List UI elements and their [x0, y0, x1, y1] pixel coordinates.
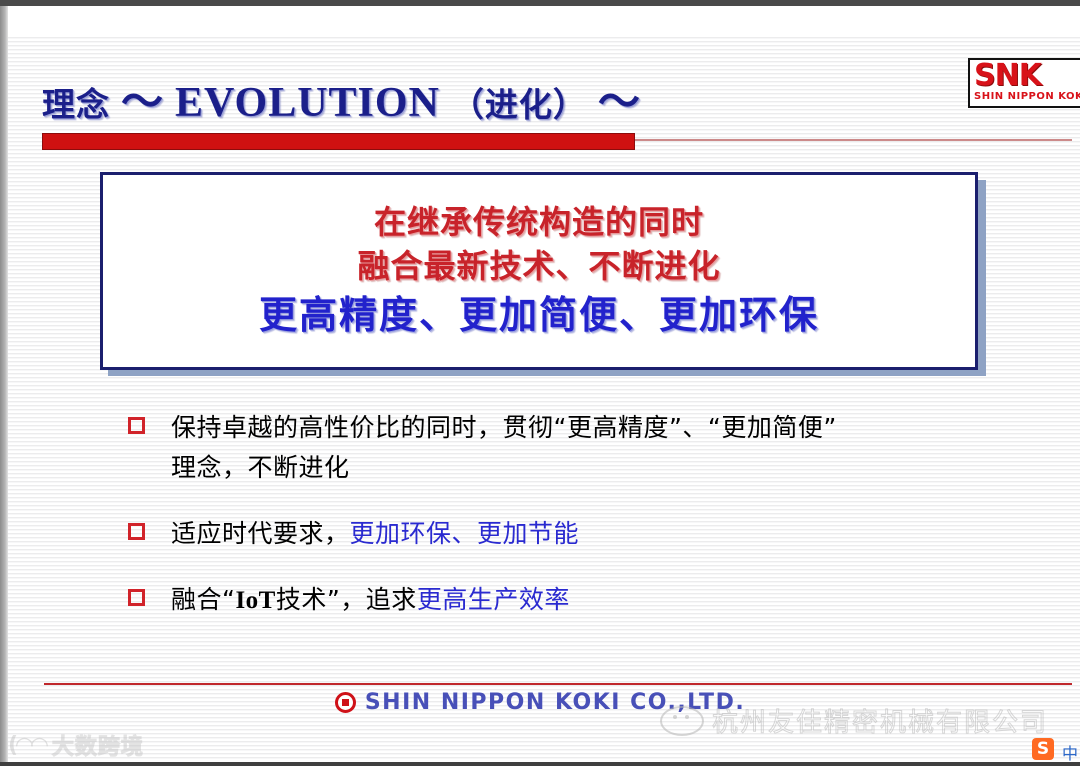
list-item-text-iot: IoT — [235, 587, 275, 614]
watermark-right: 杭州友佳精密机械有限公司 — [660, 702, 1048, 739]
page-title-separator-left: ～ — [121, 80, 164, 126]
list-item-text: 适应时代要求，更加环保、更加节能 — [171, 514, 579, 554]
watermark-left-logo-icon: (◠◠ — [8, 733, 46, 758]
list-item-text-plain: 适应时代要求， — [171, 519, 350, 548]
watermark-left: (◠◠ 大数跨境 — [8, 729, 144, 761]
watermark-right-text: 杭州友佳精密机械有限公司 — [712, 702, 1048, 739]
slide-canvas: 理念 ～ EVOLUTION （进化） ～ SNK SHIN NIPPON KO… — [0, 0, 1080, 766]
snk-logo-subtitle: SHIN NIPPON KOKI — [970, 91, 1080, 103]
list-item: 适应时代要求，更加环保、更加节能 — [128, 514, 1028, 554]
snk-logo: SNK SHIN NIPPON KOKI — [968, 58, 1080, 108]
list-item-text-highlight: 更高生产效率 — [417, 585, 570, 614]
page-title-en: EVOLUTION — [175, 80, 440, 126]
callout-box: 在继承传统构造的同时 融合最新技术、不断进化 更高精度、更加简便、更加环保 — [100, 172, 978, 370]
square-bullet-icon — [128, 589, 145, 606]
list-item-text-highlight: 更加环保、更加节能 — [350, 519, 580, 548]
page-title-cn: 理念 — [42, 85, 110, 124]
page-title-separator-right: ～ — [598, 80, 641, 126]
callout-line-1: 在继承传统构造的同时 — [374, 200, 704, 244]
top-edge-bar — [0, 0, 1080, 6]
list-item: 保持卓越的高性价比的同时，贯彻“更高精度”、“更加简便” 理念，不断进化 — [128, 408, 1028, 488]
company-mark-icon — [335, 692, 356, 713]
list-item-text-line2: 理念，不断进化 — [171, 453, 350, 482]
list-item-text: 保持卓越的高性价比的同时，贯彻“更高精度”、“更加简便” 理念，不断进化 — [171, 408, 837, 488]
callout-line-2: 融合最新技术、不断进化 — [357, 244, 720, 288]
snk-logo-brand: SNK — [970, 60, 1080, 91]
square-bullet-icon — [128, 523, 145, 540]
bullet-list: 保持卓越的高性价比的同时，贯彻“更高精度”、“更加简便” 理念，不断进化 适应时… — [128, 408, 1028, 647]
title-underline-thick — [42, 133, 635, 150]
page-title: 理念 ～ EVOLUTION （进化） ～ — [42, 68, 641, 129]
list-item-text-plain-c: 技术”，追求 — [276, 585, 417, 614]
sogou-badge-icon: S — [1032, 738, 1054, 760]
footer-divider — [44, 683, 1072, 685]
list-item-text-plain-a: 融合“ — [171, 585, 235, 614]
bottom-edge-bar — [0, 762, 1080, 766]
list-item-text-line1: 保持卓越的高性价比的同时，贯彻“更高精度”、“更加简便” — [171, 413, 837, 442]
page-title-paren: （进化） — [451, 85, 587, 124]
wechat-bubble-icon — [660, 706, 704, 736]
watermark-left-text: 大数跨境 — [52, 729, 144, 761]
square-bullet-icon — [128, 417, 145, 434]
sogou-label: 中 — [1062, 740, 1078, 764]
left-edge-rail — [0, 6, 8, 766]
callout-line-3: 更高精度、更加简便、更加环保 — [259, 288, 819, 342]
list-item-text: 融合“IoT技术”，追求更高生产效率 — [171, 580, 570, 621]
list-item: 融合“IoT技术”，追求更高生产效率 — [128, 580, 1028, 621]
